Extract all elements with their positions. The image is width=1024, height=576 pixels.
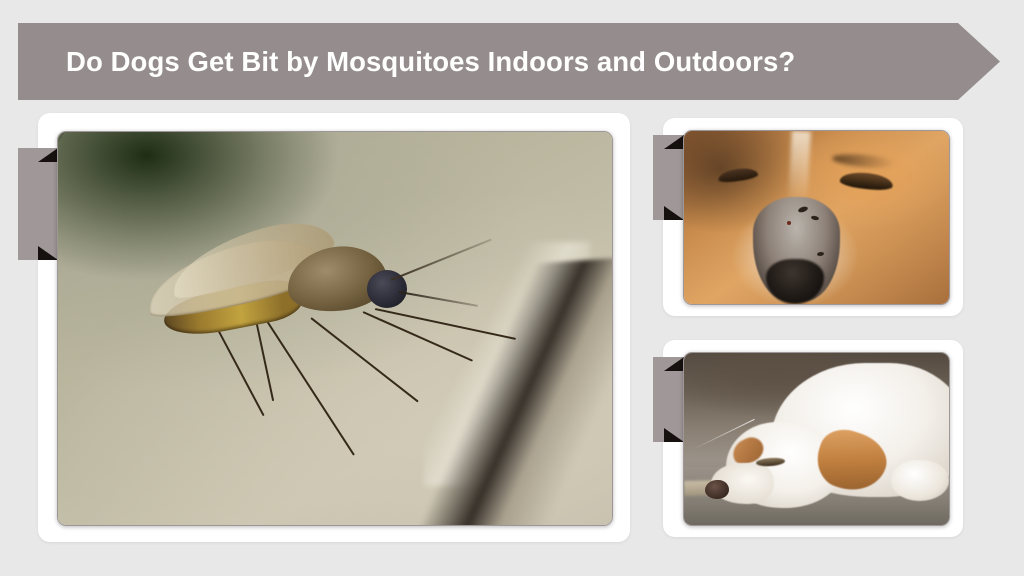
page-title: Do Dogs Get Bit by Mosquitoes Indoors an… — [66, 46, 795, 78]
ribbon-fold-top-icon — [664, 135, 684, 149]
ribbon-fold-top-icon — [38, 148, 58, 162]
mosquito-antenna — [391, 239, 491, 281]
ribbon-fold-bottom-icon — [664, 206, 684, 220]
mosquito-leg — [215, 323, 265, 415]
mosquito-proboscis — [399, 291, 478, 307]
top-right-photo-ribbon — [653, 135, 684, 220]
dog-nose — [705, 480, 729, 499]
mosquito-figure — [136, 183, 535, 474]
ribbon-fold-top-icon — [664, 357, 684, 371]
bottom-right-photo-ribbon — [653, 357, 684, 442]
title-banner: Do Dogs Get Bit by Mosquitoes Indoors an… — [18, 23, 1000, 100]
main-photo-ribbon — [18, 148, 58, 260]
ribbon-fold-bottom-icon — [664, 428, 684, 442]
photo-dog-lying-down[interactable] — [683, 352, 950, 526]
dog-paw — [891, 460, 949, 501]
ribbon-fold-bottom-icon — [38, 246, 58, 260]
mosquito-leg — [375, 308, 516, 340]
photo-dog-face-insects[interactable] — [683, 130, 950, 305]
ribbon-body — [18, 148, 58, 260]
dog-face-blaze — [788, 131, 810, 205]
slide-canvas: Do Dogs Get Bit by Mosquitoes Indoors an… — [0, 0, 1024, 576]
photo-mosquito[interactable] — [57, 131, 613, 526]
